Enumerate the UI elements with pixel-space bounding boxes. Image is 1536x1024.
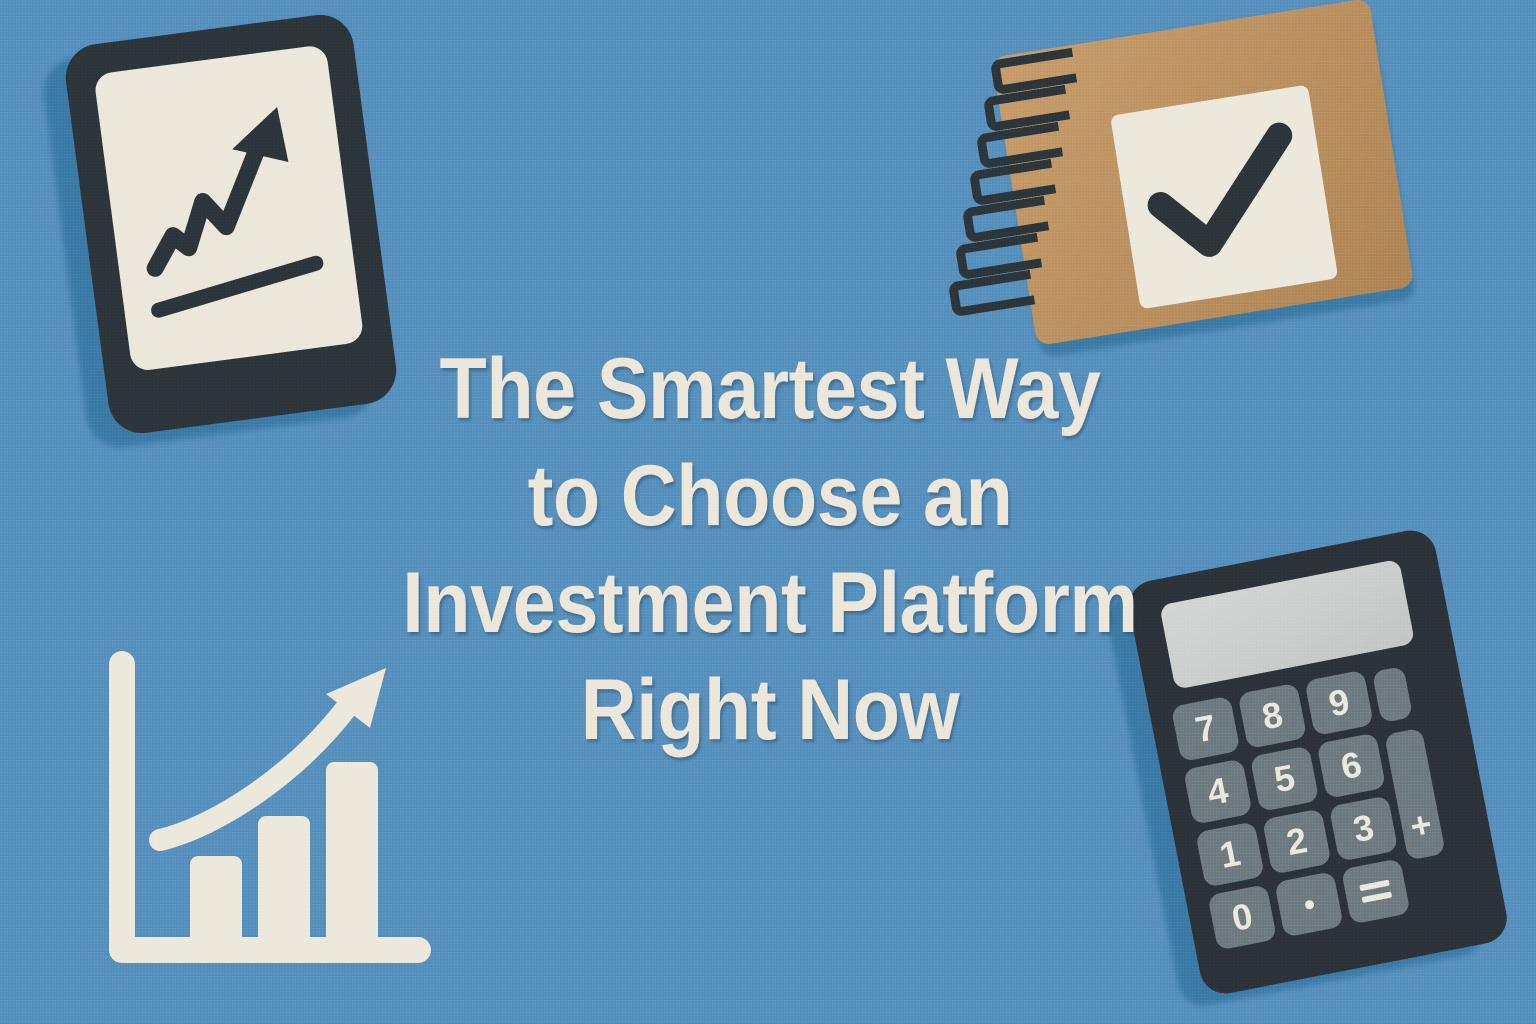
phone-screen <box>93 44 364 372</box>
calc-key-6[interactable]: 6 <box>1317 733 1387 799</box>
notebook-check-card <box>1110 85 1338 310</box>
calc-key-1[interactable]: 1 <box>1195 821 1265 887</box>
chart-trend-arrow <box>160 706 348 840</box>
calc-key-3[interactable]: 3 <box>1329 795 1399 861</box>
decimal-dot-icon <box>1304 899 1315 910</box>
calc-key-decimal[interactable] <box>1274 871 1344 937</box>
calc-key-4[interactable]: 4 <box>1183 758 1253 824</box>
chart-bar-3 <box>326 762 378 944</box>
phone-screen-graphic <box>93 44 364 372</box>
calc-key-0[interactable]: 0 <box>1207 884 1277 950</box>
equals-bar-top <box>1359 880 1390 892</box>
spiral-notebook-checkmark-icon <box>990 18 1420 368</box>
poster-canvas: The Smartest Way to Choose an Investment… <box>0 0 1536 1024</box>
calc-key-2[interactable]: 2 <box>1262 808 1332 874</box>
title-line-2: to Choose an <box>374 443 1166 550</box>
chart-bar-1 <box>190 856 242 944</box>
checkmark-icon <box>1110 85 1338 310</box>
equals-bar-bottom <box>1362 891 1393 903</box>
title-line-3: Investment Platform <box>374 550 1166 657</box>
notebook-ring <box>948 270 1035 318</box>
calc-key-blank[interactable] <box>1372 666 1413 723</box>
calc-key-equals[interactable] <box>1341 858 1411 924</box>
title-line-4: Right Now <box>374 657 1166 764</box>
page-title: The Smartest Way to Choose an Investment… <box>330 336 1210 764</box>
calc-key-8[interactable]: 8 <box>1238 683 1308 749</box>
chart-bar-2 <box>258 816 310 944</box>
title-line-1: The Smartest Way <box>374 336 1166 443</box>
calc-key-9[interactable]: 9 <box>1304 670 1374 736</box>
calculator-keypad: 7 8 9 4 5 6 + 1 2 3 0 <box>1171 656 1487 971</box>
calc-key-5[interactable]: 5 <box>1250 745 1320 811</box>
